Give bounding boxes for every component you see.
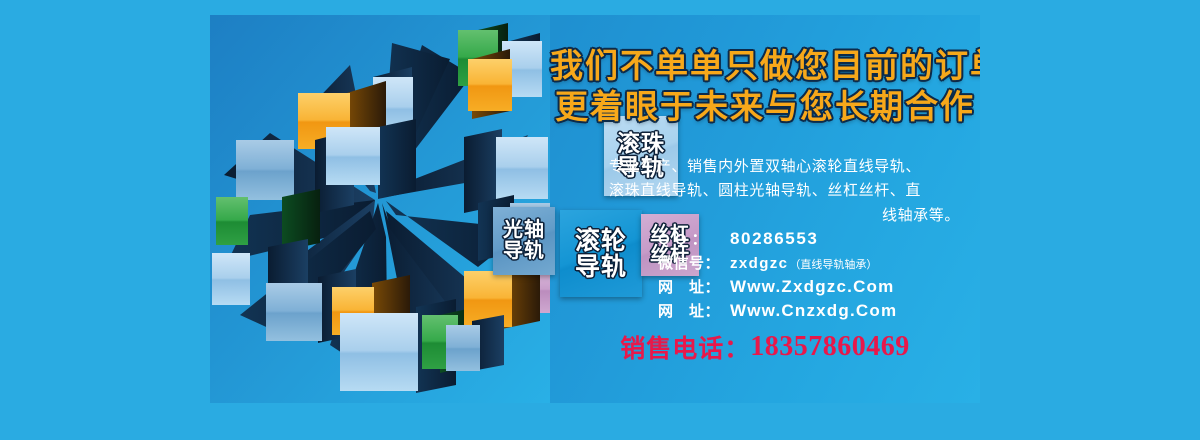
wechat-value[interactable]: zxdgzc [730, 255, 788, 272]
website-2-value[interactable]: Www.Cnzxdg.Com [730, 301, 897, 321]
product-label-guangzhou-daogui[interactable]: 光轴 导轨 [493, 207, 555, 275]
sales-phone-number[interactable]: 18357860469 [750, 331, 910, 362]
banner-stage: 滚珠 导轨 光轴 导轨 滚轮 导轨 丝杠 丝杆 我们不单单只做您目前的订单 更着… [0, 0, 1200, 440]
contact-block: Q Q ： 80286553 微信号： zxdgzc （直线导轨轴承） 网 址：… [658, 228, 980, 324]
label-line-2: 导轨 [503, 241, 545, 262]
description-line-1: 专业生产、销售内外置双轴心滚轮直线导轨、 [564, 155, 966, 179]
cube-orange-top-right [468, 49, 512, 119]
website-2-label: 网 址： [658, 300, 730, 321]
headline-line-1: 我们不单单只做您目前的订单 [550, 46, 980, 87]
website-1-value[interactable]: Www.Zxdgzc.Com [730, 277, 894, 297]
description-line-3: 线轴承等。 [564, 204, 966, 228]
wechat-label: 微信号： [658, 252, 730, 273]
qq-label: Q Q ： [658, 228, 730, 249]
contact-row-website-2: 网 址： Www.Cnzxdg.Com [658, 300, 980, 321]
wechat-note: （直线导轨轴承） [789, 256, 877, 272]
qq-value[interactable]: 80286553 [730, 229, 818, 249]
label-line-1: 光轴 [503, 220, 545, 241]
description-line-2: 滚珠直线导轨、圆柱光轴导轨、丝杠丝杆、直 [564, 179, 966, 203]
contact-row-website-1: 网 址： Www.Zxdgzc.Com [658, 276, 980, 297]
banner-copy-column: 我们不单单只做您目前的订单 更着眼于未来与您长期合作 专业生产、销售内外置双轴心… [550, 15, 980, 403]
headline: 我们不单单只做您目前的订单 更着眼于未来与您长期合作 [550, 46, 980, 128]
headline-line-2: 更着眼于未来与您长期合作 [550, 87, 980, 128]
promo-banner: 滚珠 导轨 光轴 导轨 滚轮 导轨 丝杠 丝杆 我们不单单只做您目前的订单 更着… [210, 15, 980, 403]
website-1-label: 网 址： [658, 276, 730, 297]
sales-phone-label: 销售电话： [620, 335, 750, 363]
description: 专业生产、销售内外置双轴心滚轮直线导轨、 滚珠直线导轨、圆柱光轴导轨、丝杠丝杆、… [564, 155, 966, 228]
sales-phone[interactable]: 销售电话：18357860469 [550, 329, 980, 365]
contact-row-wechat: 微信号： zxdgzc （直线导轨轴承） [658, 252, 980, 273]
contact-row-qq: Q Q ： 80286553 [658, 228, 980, 249]
